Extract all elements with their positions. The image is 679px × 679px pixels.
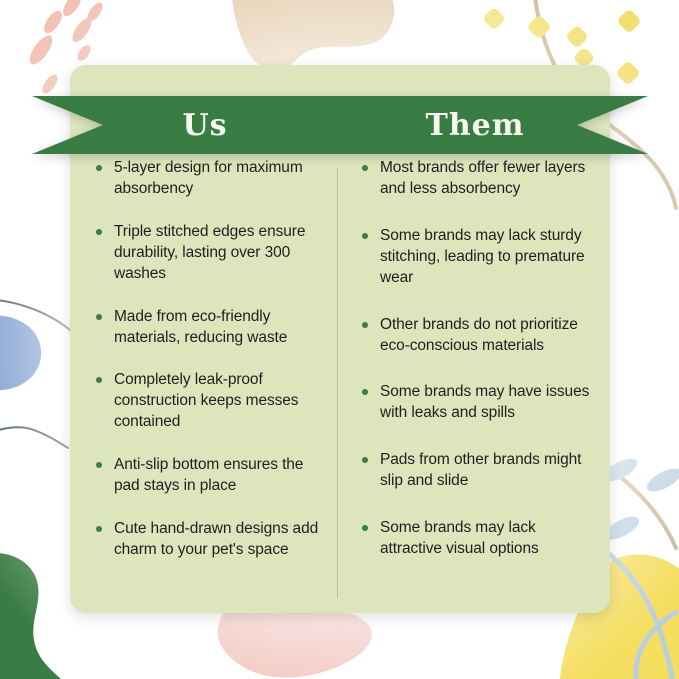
- column-divider: [337, 168, 338, 598]
- column-header-us-label: Us: [182, 108, 227, 143]
- us-bullet-list: 5-layer design for maximum absorbency Tr…: [94, 158, 324, 561]
- column-header-us: Us: [70, 96, 340, 154]
- list-item: Triple stitched edges ensure durability,…: [94, 222, 324, 285]
- ribbon-title-row: Us Them: [70, 96, 610, 154]
- list-item: Some brands may lack sturdy stitching, l…: [360, 226, 598, 289]
- list-item: Made from eco-friendly materials, reduci…: [94, 307, 324, 349]
- column-them: Most brands offer fewer layers and less …: [340, 158, 610, 613]
- list-item: Pads from other brands might slip and sl…: [360, 450, 598, 492]
- comparison-columns: 5-layer design for maximum absorbency Tr…: [70, 154, 610, 613]
- list-item: Some brands may lack attractive visual o…: [360, 518, 598, 560]
- list-item: Anti-slip bottom ensures the pad stays i…: [94, 455, 324, 497]
- column-header-them: Them: [340, 96, 610, 154]
- list-item: Some brands may have issues with leaks a…: [360, 382, 598, 424]
- list-item: Most brands offer fewer layers and less …: [360, 158, 598, 200]
- column-us: 5-layer design for maximum absorbency Tr…: [70, 158, 340, 613]
- list-item: 5-layer design for maximum absorbency: [94, 158, 324, 200]
- list-item: Other brands do not prioritize eco-consc…: [360, 315, 598, 357]
- list-item: Cute hand-drawn designs add charm to you…: [94, 519, 324, 561]
- list-item: Completely leak-proof construction keeps…: [94, 370, 324, 433]
- them-bullet-list: Most brands offer fewer layers and less …: [360, 158, 598, 560]
- column-header-them-label: Them: [426, 108, 525, 143]
